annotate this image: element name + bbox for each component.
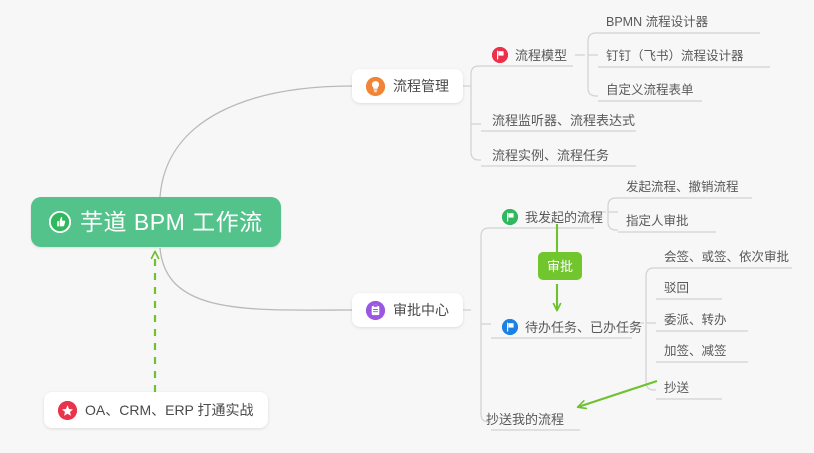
leaf-process-model[interactable]: 流程模型 <box>492 44 567 66</box>
leaf-cc-to-me-process[interactable]: 抄送我的流程 <box>486 408 564 430</box>
lightbulb-icon <box>366 77 385 96</box>
leaf-delegate-transfer[interactable]: 委派、转办 <box>664 309 727 331</box>
link-root-to-approval-center <box>160 248 352 310</box>
leaf-label-custom-process-form: 自定义流程表单 <box>606 84 694 97</box>
link-process-management-bracket <box>462 66 481 160</box>
link-process-model-bracket <box>575 33 598 96</box>
leaf-label-my-initiated-process: 我发起的流程 <box>525 211 603 224</box>
leaf-bpmn-designer[interactable]: BPMN 流程设计器 <box>606 11 708 33</box>
leaf-label-add-remove-sign: 加签、减签 <box>664 345 727 358</box>
clipboard-icon <box>366 301 385 320</box>
leaf-label-countersign-or-sequential: 会签、或签、依次审批 <box>664 251 789 264</box>
approval-tag-label: 审批 <box>547 260 573 273</box>
branch-node-process-management[interactable]: 流程管理 <box>352 69 463 103</box>
leaf-label-process-instance-task: 流程实例、流程任务 <box>492 149 609 162</box>
leaf-label-start-cancel-process: 发起流程、撤销流程 <box>626 181 739 194</box>
leaf-label-todo-done-tasks: 待办任务、已办任务 <box>525 321 642 334</box>
approval-tag[interactable]: 审批 <box>538 252 582 280</box>
footer-node-label: OA、CRM、ERP 打通实战 <box>85 403 254 417</box>
footer-node-oa-crm-erp[interactable]: OA、CRM、ERP 打通实战 <box>44 392 268 428</box>
leaf-label-process-listener-expression: 流程监听器、流程表达式 <box>492 114 635 127</box>
leaf-add-remove-sign[interactable]: 加签、减签 <box>664 340 727 362</box>
leaf-label-process-model: 流程模型 <box>515 49 567 62</box>
leaf-label-bpmn-designer: BPMN 流程设计器 <box>606 16 708 29</box>
leaf-label-reject: 驳回 <box>664 282 689 295</box>
leaf-cc[interactable]: 抄送 <box>664 377 689 399</box>
flag-red-icon <box>492 47 508 63</box>
leaf-process-listener-expression[interactable]: 流程监听器、流程表达式 <box>492 109 635 131</box>
leaf-label-cc-to-me-process: 抄送我的流程 <box>486 413 564 426</box>
link-approval-center-bracket <box>462 228 491 422</box>
leaf-label-designated-approver: 指定人审批 <box>626 215 689 228</box>
leaf-process-instance-task[interactable]: 流程实例、流程任务 <box>492 144 609 166</box>
leaf-reject[interactable]: 驳回 <box>664 277 689 299</box>
link-root-to-process-management <box>160 86 352 197</box>
thumbs-up-icon <box>49 211 71 233</box>
flag-blue-icon <box>502 319 518 335</box>
cc-flow-arrow <box>578 381 657 407</box>
mindmap-canvas: 芋道 BPM 工作流 流程管理 审批中心 <box>0 0 814 453</box>
root-node-label: 芋道 BPM 工作流 <box>80 211 263 234</box>
branch-node-approval-center[interactable]: 审批中心 <box>352 293 463 327</box>
leaf-my-initiated-process[interactable]: 我发起的流程 <box>502 206 603 228</box>
leaf-label-delegate-transfer: 委派、转办 <box>664 314 727 327</box>
leaf-countersign-or-sequential[interactable]: 会签、或签、依次审批 <box>664 246 789 268</box>
leaf-start-cancel-process[interactable]: 发起流程、撤销流程 <box>626 176 739 198</box>
leaf-todo-done-tasks[interactable]: 待办任务、已办任务 <box>502 316 642 338</box>
root-node[interactable]: 芋道 BPM 工作流 <box>31 197 281 247</box>
leaf-label-cc: 抄送 <box>664 382 689 395</box>
branch-label-approval-center: 审批中心 <box>393 303 449 317</box>
leaf-custom-process-form[interactable]: 自定义流程表单 <box>606 79 694 101</box>
leaf-label-dingtalk-feishu-designer: 钉钉（飞书）流程设计器 <box>606 50 744 63</box>
branch-label-process-management: 流程管理 <box>393 79 449 93</box>
leaf-dingtalk-feishu-designer[interactable]: 钉钉（飞书）流程设计器 <box>606 45 744 67</box>
leaf-designated-approver[interactable]: 指定人审批 <box>626 210 689 232</box>
star-icon <box>58 401 77 420</box>
flag-green-icon <box>502 209 518 225</box>
